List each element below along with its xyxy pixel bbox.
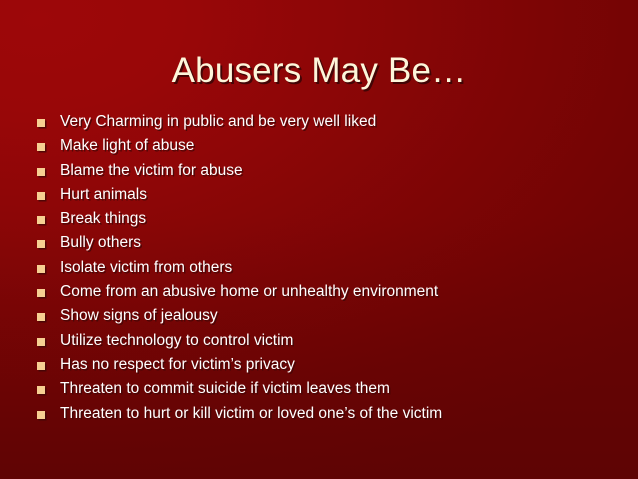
list-item-label: Show signs of jealousy xyxy=(60,304,218,328)
list-item: Threaten to hurt or kill victim or loved… xyxy=(0,402,638,426)
bullet-square-icon xyxy=(37,265,45,273)
list-item: Has no respect for victim’s privacy xyxy=(0,353,638,377)
bullet-square-icon xyxy=(37,289,45,297)
bullet-square-icon xyxy=(37,119,45,127)
list-item: Hurt animals xyxy=(0,183,638,207)
list-item-label: Hurt animals xyxy=(60,183,147,207)
list-item: Make light of abuse xyxy=(0,134,638,158)
bullet-square-icon xyxy=(37,411,45,419)
list-item-label: Threaten to hurt or kill victim or loved… xyxy=(60,402,442,426)
bullet-square-icon xyxy=(37,240,45,248)
bullet-square-icon xyxy=(37,216,45,224)
bullet-list: Very Charming in public and be very well… xyxy=(0,110,638,426)
list-item-label: Threaten to commit suicide if victim lea… xyxy=(60,377,390,401)
bullet-square-icon xyxy=(37,362,45,370)
list-item-label: Break things xyxy=(60,207,146,231)
list-item: Blame the victim for abuse xyxy=(0,159,638,183)
slide-title: Abusers May Be… xyxy=(0,49,638,93)
list-item-label: Blame the victim for abuse xyxy=(60,159,243,183)
list-item: Very Charming in public and be very well… xyxy=(0,110,638,134)
list-item: Bully others xyxy=(0,231,638,255)
list-item-label: Very Charming in public and be very well… xyxy=(60,110,376,134)
list-item: Isolate victim from others xyxy=(0,256,638,280)
list-item: Show signs of jealousy xyxy=(0,304,638,328)
list-item: Come from an abusive home or unhealthy e… xyxy=(0,280,638,304)
list-item-label: Isolate victim from others xyxy=(60,256,232,280)
bullet-square-icon xyxy=(37,386,45,394)
bullet-square-icon xyxy=(37,313,45,321)
list-item-label: Utilize technology to control victim xyxy=(60,329,293,353)
bullet-square-icon xyxy=(37,338,45,346)
bullet-square-icon xyxy=(37,168,45,176)
list-item: Utilize technology to control victim xyxy=(0,329,638,353)
bullet-square-icon xyxy=(37,192,45,200)
list-item: Threaten to commit suicide if victim lea… xyxy=(0,377,638,401)
list-item-label: Has no respect for victim’s privacy xyxy=(60,353,295,377)
presentation-slide: Abusers May Be… Very Charming in public … xyxy=(0,0,638,479)
list-item-label: Bully others xyxy=(60,231,141,255)
list-item-label: Come from an abusive home or unhealthy e… xyxy=(60,280,438,304)
list-item: Break things xyxy=(0,207,638,231)
list-item-label: Make light of abuse xyxy=(60,134,194,158)
bullet-square-icon xyxy=(37,143,45,151)
